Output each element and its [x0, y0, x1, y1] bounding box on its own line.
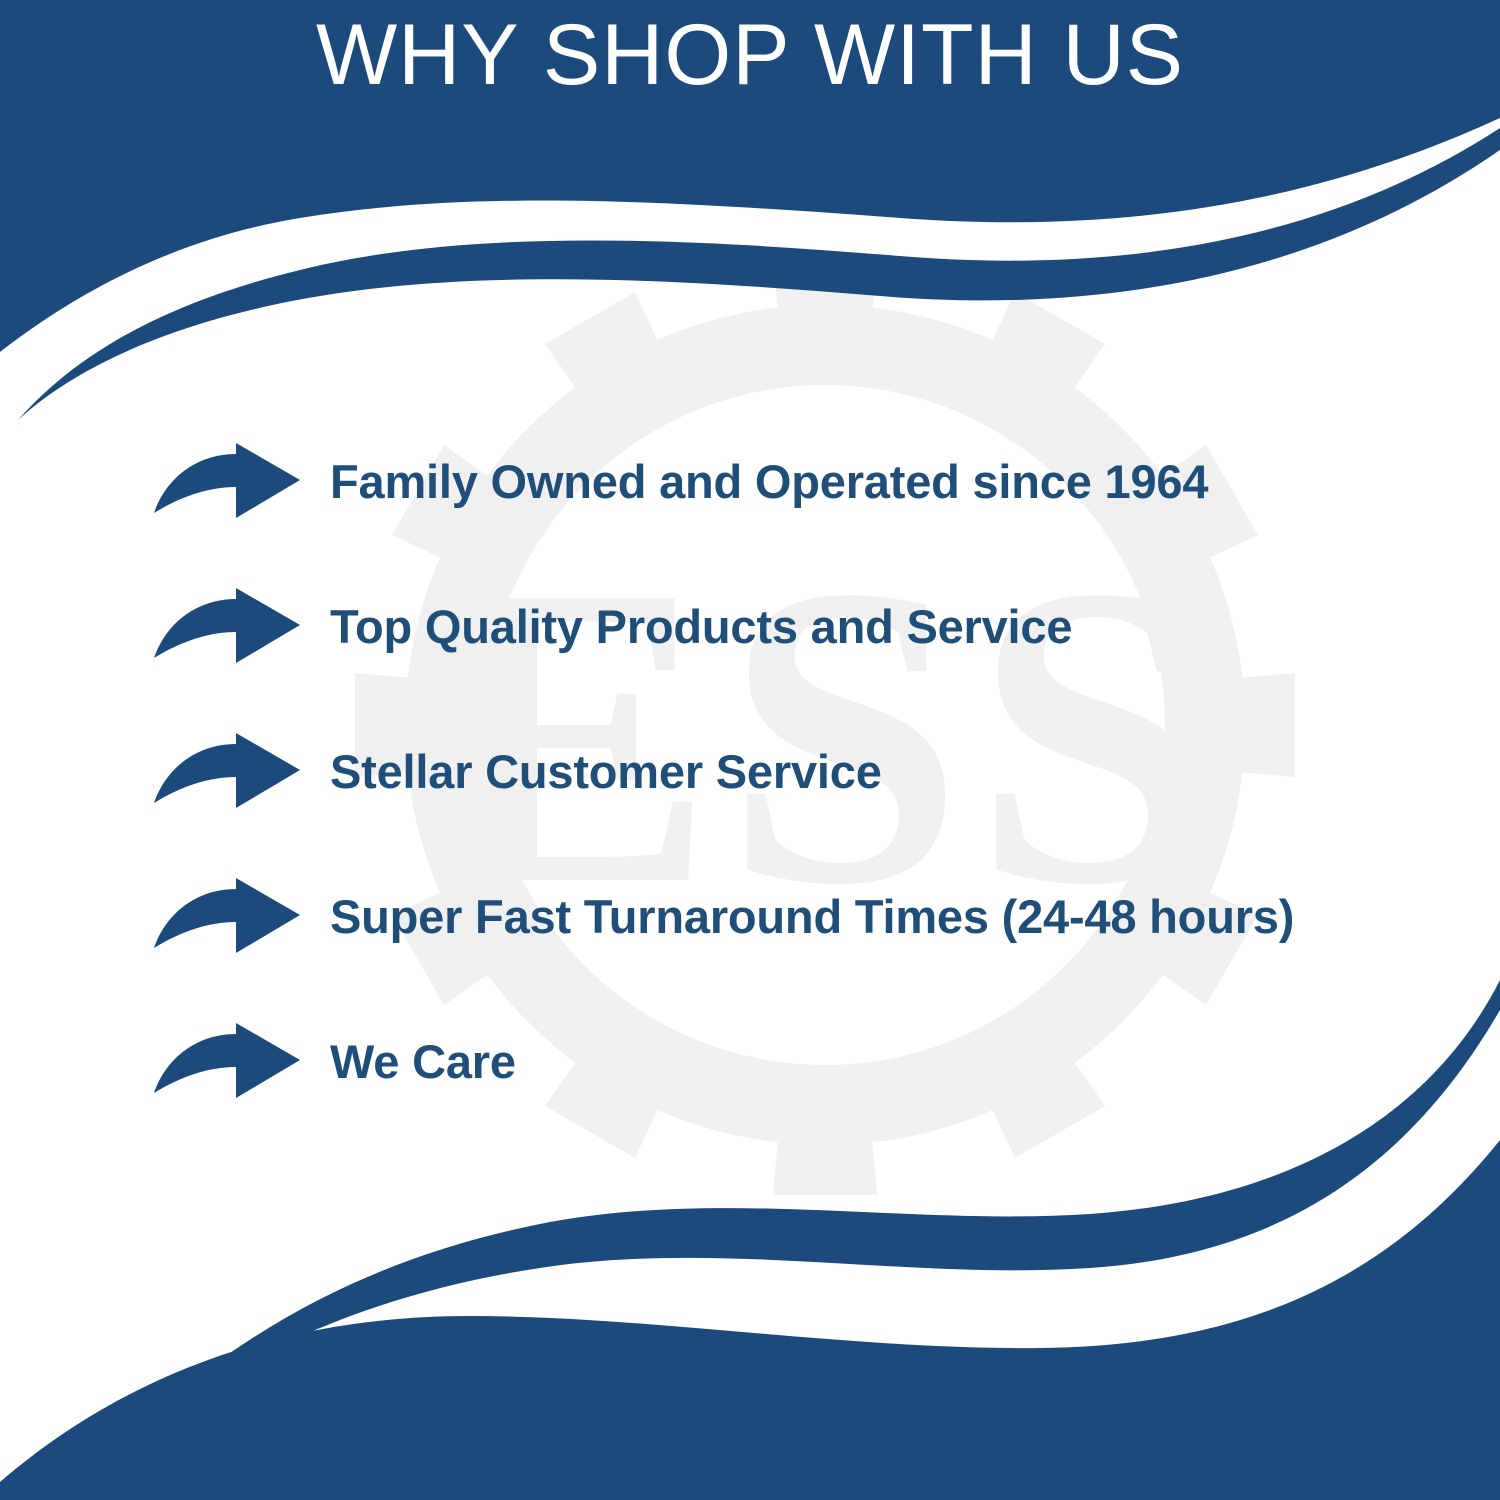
ribbon-swoosh-top — [18, 128, 1500, 420]
benefit-label: Family Owned and Operated since 1964 — [330, 456, 1208, 508]
curved-arrow-right-icon — [152, 732, 302, 812]
wave-band-bottom — [0, 1140, 1500, 1500]
curved-arrow-right-icon — [152, 1022, 302, 1102]
page-title: WHY SHOP WITH US — [316, 0, 1184, 98]
benefit-label: We Care — [330, 1036, 516, 1088]
curved-arrow-right-icon — [152, 442, 302, 522]
benefit-label: Stellar Customer Service — [330, 746, 882, 798]
curved-arrow-right-icon — [152, 587, 302, 667]
benefit-label: Top Quality Products and Service — [330, 601, 1072, 653]
benefit-label: Super Fast Turnaround Times (24-48 hours… — [330, 891, 1294, 943]
header-band: WHY SHOP WITH US — [0, 0, 1500, 150]
benefit-item: Top Quality Products and Service — [0, 577, 1500, 677]
benefits-list: Family Owned and Operated since 1964 Top… — [0, 432, 1500, 1112]
poster-canvas: ESS WHY SHOP WITH US Family Owned and Op… — [0, 0, 1500, 1500]
benefit-item: Stellar Customer Service — [0, 722, 1500, 822]
benefit-item: We Care — [0, 1012, 1500, 1112]
benefit-item: Family Owned and Operated since 1964 — [0, 432, 1500, 532]
curved-arrow-right-icon — [152, 877, 302, 957]
benefit-item: Super Fast Turnaround Times (24-48 hours… — [0, 867, 1500, 967]
